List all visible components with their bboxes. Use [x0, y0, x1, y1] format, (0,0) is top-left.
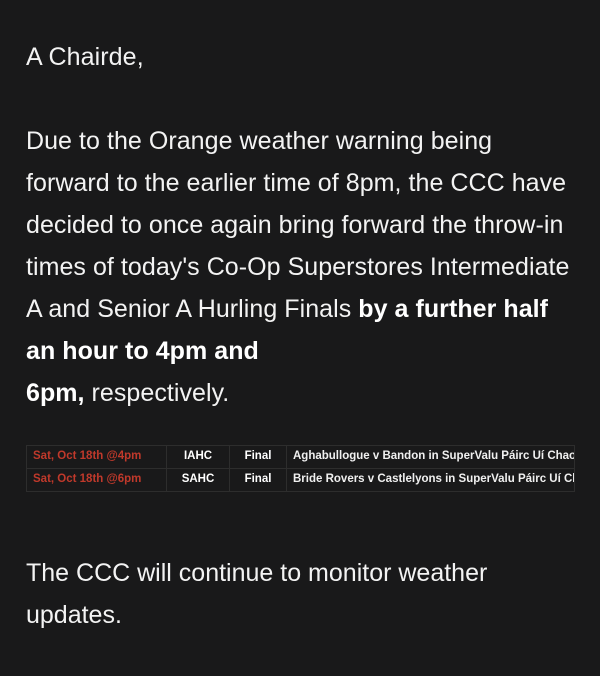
table-row: Sat, Oct 18th @4pm IAHC Final Aghabullog… — [27, 446, 575, 469]
salutation-text: A Chairde, — [26, 26, 574, 78]
table-row: Sat, Oct 18th @6pm SAHC Final Bride Rove… — [27, 469, 575, 492]
notice-page: A Chairde, Due to the Orange weather war… — [0, 0, 600, 676]
fixture-date-badge: Sat, Oct 18th @4pm — [27, 446, 167, 469]
fixture-detail: Aghabullogue v Bandon in SuperValu Páirc… — [287, 446, 575, 469]
body-paragraph-tail: respectively. — [85, 379, 230, 407]
body-paragraph-emphasis-secondary: 6pm, — [26, 379, 85, 407]
fixture-stage: Final — [230, 446, 287, 469]
fixture-competition: IAHC — [167, 446, 230, 469]
fixtures-table-wrapper: Sat, Oct 18th @4pm IAHC Final Aghabullog… — [26, 445, 574, 492]
fixture-stage: Final — [230, 469, 287, 492]
fixture-detail: Bride Rovers v Castlelyons in SuperValu … — [287, 469, 575, 492]
table-closing-spacer-2 — [26, 522, 574, 552]
body-paragraph: Due to the Orange weather warning being … — [26, 120, 574, 414]
fixture-competition: SAHC — [167, 469, 230, 492]
closing-paragraph: The CCC will continue to monitor weather… — [26, 552, 574, 636]
body-paragraph-lead: Due to the Orange weather warning being … — [26, 127, 569, 323]
table-closing-spacer — [26, 492, 574, 522]
fixture-date-badge: Sat, Oct 18th @6pm — [27, 469, 167, 492]
paragraph-spacer — [26, 78, 574, 120]
fixtures-table: Sat, Oct 18th @4pm IAHC Final Aghabullog… — [26, 445, 575, 492]
